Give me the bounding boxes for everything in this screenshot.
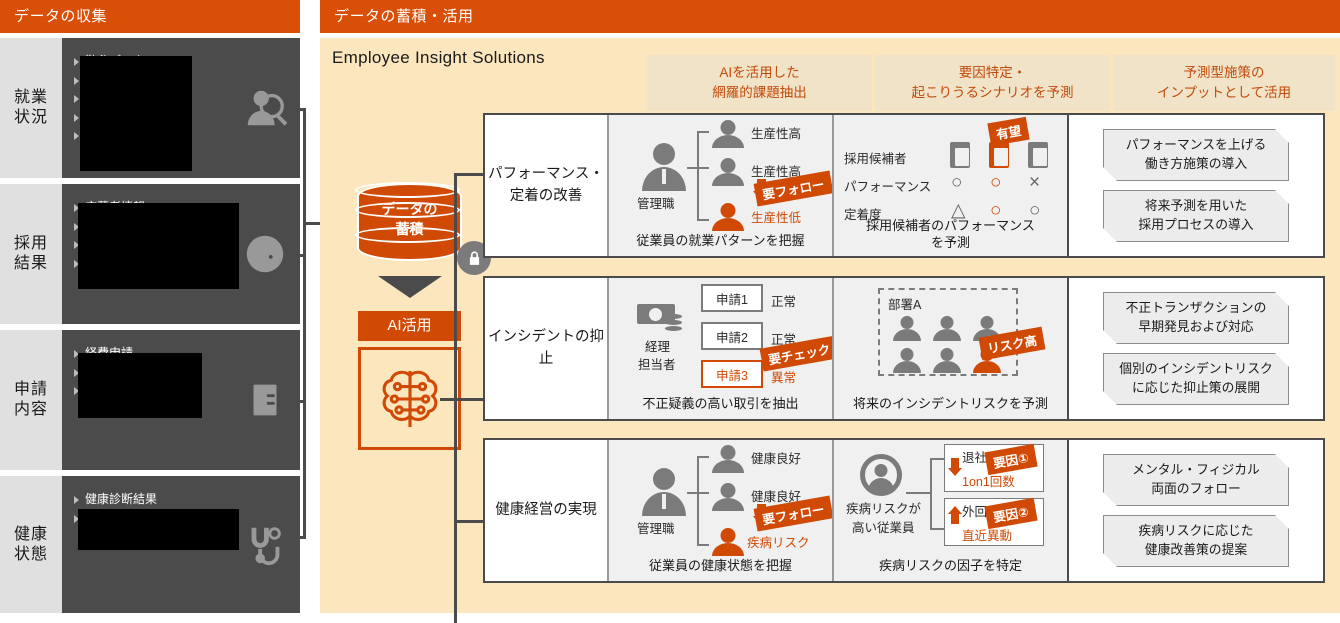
at-risk-label-line1: 疾病リスクが xyxy=(846,498,921,517)
row1-actions-cell: パフォーマンスを上げる 働き方施策の導入 将来予測を用いた 採用プロセスの導入 xyxy=(1067,115,1323,256)
action-line2: 早期発見および対応 xyxy=(1126,318,1267,337)
solution-row-incident: インシデントの抑止 経理 担当者 申請1 正常 申請2 正常 申請3 異常 xyxy=(483,276,1325,421)
employee-icon-alert xyxy=(711,528,745,554)
caption-line1: 採用候補者のパフォーマンス xyxy=(834,218,1067,235)
factor1-down-arrow-icon xyxy=(948,458,962,476)
diagram-root: データの収集 データの蓄積・活用 就業状況 勤怠データ 労働時間 残業時間 休暇… xyxy=(0,0,1340,613)
redaction-overlay xyxy=(80,56,192,171)
data-source-row-applications: 申請内容 経費申請 稟議申請 各種申請 xyxy=(0,330,300,470)
employee-icon xyxy=(711,158,745,184)
db-label-line1: データの xyxy=(357,199,462,219)
row-title-health: 健康経営の実現 xyxy=(485,440,607,581)
row1-mid-caption: 従業員の就業パターンを把握 xyxy=(609,230,832,249)
employee-icon xyxy=(711,483,745,509)
employee-status-3: 生産性低 xyxy=(751,207,801,226)
row2-ai-extraction-cell: 経理 担当者 申請1 正常 申請2 正常 申請3 異常 要チェック 不正疑義の高… xyxy=(607,278,832,419)
action-line2: 働き方施策の導入 xyxy=(1126,155,1267,174)
accountant-icon xyxy=(637,302,685,330)
row3-mid-caption: 従業員の健康状態を把握 xyxy=(609,555,832,574)
action-box: 不正トランザクションの 早期発見および対応 xyxy=(1103,292,1289,344)
manager-icon xyxy=(641,143,687,191)
caption-line2: を予測 xyxy=(834,235,1067,252)
accountant-label-line2: 担当者 xyxy=(638,354,676,373)
action-box: 疾病リスクに応じた 健康改善策の提案 xyxy=(1103,515,1289,567)
column-header-line2: インプットとして活用 xyxy=(1157,83,1291,103)
column-header-line1: 予測型施策の xyxy=(1157,63,1291,83)
data-source-row-health: 健康状態 健康診断結果 ストレスチェック xyxy=(0,476,300,613)
at-risk-label-line2: 高い従業員 xyxy=(852,517,915,536)
action-box: 将来予測を用いた 採用プロセスの導入 xyxy=(1103,190,1289,242)
db-label-line2: 蓄積 xyxy=(357,219,462,239)
source-label-applications: 申請内容 xyxy=(0,330,62,470)
accountant-label-line1: 経理 xyxy=(645,336,670,355)
performance-mark-2: ○ xyxy=(990,173,1001,192)
dept-person-icon xyxy=(932,348,962,372)
row3-prediction-cell: 疾病リスクが 高い従業員 退社時間 1on1回数 要因① 外回り xyxy=(832,440,1067,581)
source-label-health: 健康状態 xyxy=(0,476,62,613)
action-line1: パフォーマンスを上げる xyxy=(1126,136,1267,155)
column-header-ai-extraction: AIを活用した 網羅的課題抽出 xyxy=(647,55,872,111)
column-header-factor-prediction: 要因特定・ 起こりうるシナリオを予測 xyxy=(875,55,1110,111)
action-line1: メンタル・フィジカル xyxy=(1132,461,1260,480)
source-connector-h1 xyxy=(290,108,306,111)
application-box-3-flagged: 申請3 xyxy=(701,360,763,388)
action-line2: 健康改善策の提案 xyxy=(1138,541,1253,560)
redaction-overlay xyxy=(78,509,239,550)
factor2-up-arrow-icon xyxy=(948,506,962,524)
action-box: 個別のインシデントリスク に応じた抑止策の展開 xyxy=(1103,353,1289,405)
source-panel-employment: 勤怠データ 労働時間 残業時間 休暇取得 就業実績 xyxy=(62,38,300,178)
application-box-1: 申請1 xyxy=(701,284,763,312)
manager-label: 管理職 xyxy=(637,518,675,537)
db-label: データの 蓄積 xyxy=(357,199,462,240)
action-box: メンタル・フィジカル 両面のフォロー xyxy=(1103,454,1289,506)
row2-prediction-cell: 部署A リスク高 将来のインシデントリスクを予測 xyxy=(832,278,1067,419)
redaction-overlay xyxy=(78,203,239,289)
ai-connector-row3 xyxy=(454,520,486,523)
action-box: パフォーマンスを上げる 働き方施策の導入 xyxy=(1103,129,1289,181)
performance-mark-1: ○ xyxy=(951,173,962,192)
document-icon xyxy=(242,377,288,423)
db-ring-top xyxy=(355,182,460,198)
source-connector-v xyxy=(303,108,306,538)
page-title: Employee Insight Solutions xyxy=(332,48,545,68)
action-line2: 採用プロセスの導入 xyxy=(1138,216,1253,235)
candidate-icon-1 xyxy=(950,142,970,168)
solutions-zone: Employee Insight Solutions データの 蓄積 AI活用 xyxy=(320,38,1340,613)
row3-mid2-caption: 疾病リスクの因子を特定 xyxy=(834,555,1067,574)
performance-mark-3: × xyxy=(1029,173,1040,192)
column-header-line1: 要因特定・ xyxy=(912,63,1074,83)
dept-person-icon xyxy=(892,348,922,372)
source-label-recruiting: 採用結果 xyxy=(0,184,62,324)
promising-badge: 有望 xyxy=(987,117,1029,146)
column-header-line1: AIを活用した xyxy=(712,63,807,83)
source-panel-applications: 経費申請 稟議申請 各種申請 xyxy=(62,330,300,470)
column-header-line2: 起こりうるシナリオを予測 xyxy=(912,83,1074,103)
ai-connector-row1 xyxy=(454,173,486,176)
manager-label: 管理職 xyxy=(637,193,675,212)
row-title-line1: 健康経営の実現 xyxy=(495,500,597,522)
employee-search-icon xyxy=(242,85,288,131)
redaction-overlay xyxy=(78,353,202,418)
employee-icon xyxy=(711,445,745,471)
matrix-row-label-performance: パフォーマンス xyxy=(844,176,931,195)
column-header-predictive-action: 予測型施策の インプットとして活用 xyxy=(1113,55,1335,111)
ai-badge: AI活用 xyxy=(358,311,461,341)
row-title-performance: パフォーマンス・ 定着の改善 xyxy=(485,115,607,256)
health-status-3: 疾病リスク xyxy=(747,532,810,551)
row-title-line1: インシデントの抑止 xyxy=(485,327,607,371)
row1-prediction-cell: 採用候補者 パフォーマンス 定着度 ○ ○ × △ ○ ○ 有望 採用候補者のパ… xyxy=(832,115,1067,256)
manager-icon xyxy=(641,468,687,516)
retention-mark-3: ○ xyxy=(1029,201,1040,220)
candidate-icon-3 xyxy=(1028,142,1048,168)
health-status-1: 健康良好 xyxy=(751,448,801,467)
retention-mark-2: ○ xyxy=(990,201,1001,220)
row1-ai-extraction-cell: 管理職 生産性高 生産性高 xyxy=(607,115,832,256)
row2-actions-cell: 不正トランザクションの 早期発見および対応 個別のインシデントリスク に応じた抑… xyxy=(1067,278,1323,419)
dept-person-icon xyxy=(932,316,962,340)
application-status-1: 正常 xyxy=(771,291,796,310)
header-data-collection: データの収集 xyxy=(0,0,300,33)
row2-mid-caption: 不正疑義の高い取引を抽出 xyxy=(609,393,832,412)
source-connector-h2 xyxy=(290,254,306,257)
row2-mid2-caption: 将来のインシデントリスクを予測 xyxy=(834,393,1067,412)
health-icon xyxy=(242,522,288,568)
clock-icon xyxy=(242,231,288,277)
source-label-employment: 就業状況 xyxy=(0,38,62,178)
action-line2: に応じた抑止策の展開 xyxy=(1119,379,1273,398)
source-connector-h3 xyxy=(290,400,306,403)
factor2-bottom-label: 直近異動 xyxy=(962,525,1012,544)
row1-mid2-caption: 採用候補者のパフォーマンス を予測 xyxy=(834,218,1067,252)
data-source-row-recruiting: 採用結果 応募者情報 選考結果 内定状況 入社実績 xyxy=(0,184,300,324)
solution-row-health: 健康経営の実現 管理職 健康良好 健康良好 xyxy=(483,438,1325,583)
action-line2: 両面のフォロー xyxy=(1132,480,1260,499)
row3-ai-extraction-cell: 管理職 健康良好 健康良好 疾病リスク 要フォロー xyxy=(607,440,832,581)
column-header-line2: 網羅的課題抽出 xyxy=(712,83,807,103)
employee-icon xyxy=(711,120,745,146)
application-box-2: 申請2 xyxy=(701,322,763,350)
row-title-line2: 定着の改善 xyxy=(488,186,604,208)
database-cylinder: データの 蓄積 xyxy=(357,183,462,261)
department-label: 部署A xyxy=(888,294,921,313)
header-data-utilization: データの蓄積・活用 xyxy=(320,0,1340,33)
dept-person-icon xyxy=(892,316,922,340)
at-risk-employee-icon xyxy=(860,454,902,496)
employee-icon-alert xyxy=(711,203,745,229)
action-line1: 不正トランザクションの xyxy=(1126,299,1267,318)
employee-status-1: 生産性高 xyxy=(751,123,801,142)
row-title-incident: インシデントの抑止 xyxy=(485,278,607,419)
matrix-row-label-candidates: 採用候補者 xyxy=(844,148,907,167)
data-sources-column: 就業状況 勤怠データ 労働時間 残業時間 休暇取得 就業実績 採用結果 xyxy=(0,38,300,613)
row-title-line1: パフォーマンス・ xyxy=(488,164,604,186)
solution-row-performance: パフォーマンス・ 定着の改善 管理職 xyxy=(483,113,1325,258)
action-line1: 将来予測を用いた xyxy=(1138,197,1253,216)
retention-mark-1: △ xyxy=(951,201,966,220)
action-line1: 疾病リスクに応じた xyxy=(1138,522,1253,541)
row3-actions-cell: メンタル・フィジカル 両面のフォロー 疾病リスクに応じた 健康改善策の提案 xyxy=(1067,440,1323,581)
application-status-3: 異常 xyxy=(771,367,796,386)
list-item: 健康診断結果 xyxy=(74,490,240,509)
source-connector-h4 xyxy=(290,536,306,539)
source-panel-recruiting: 応募者情報 選考結果 内定状況 入社実績 xyxy=(62,184,300,324)
source-panel-health: 健康診断結果 ストレスチェック xyxy=(62,476,300,613)
flow-arrow-down xyxy=(378,276,442,298)
ai-connector-row2 xyxy=(454,398,486,401)
action-line1: 個別のインシデントリスク xyxy=(1119,360,1273,379)
data-source-row-employment: 就業状況 勤怠データ 労働時間 残業時間 休暇取得 就業実績 xyxy=(0,38,300,178)
